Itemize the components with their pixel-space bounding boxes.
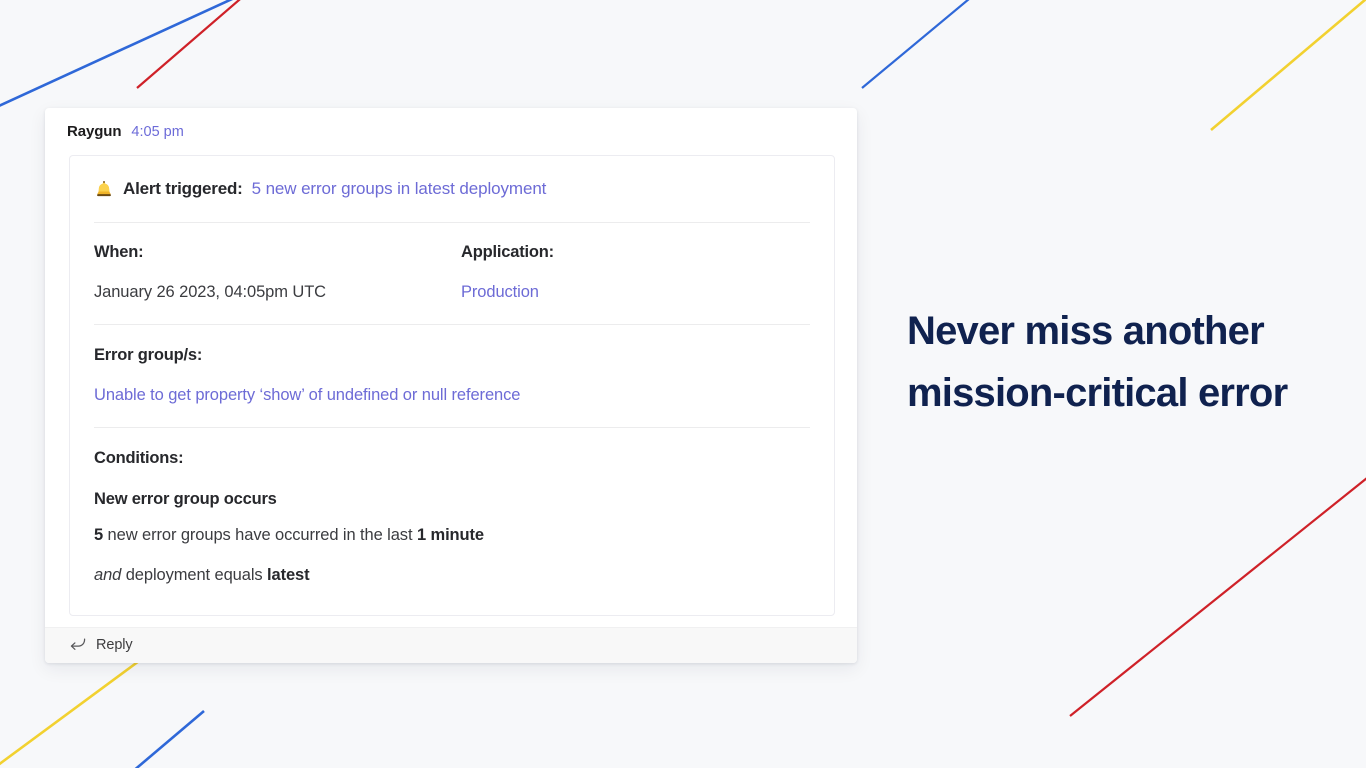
- condition-count-value: 5: [94, 526, 103, 544]
- condition-deployment-value: latest: [267, 566, 310, 584]
- condition-window-value: 1 minute: [417, 526, 484, 544]
- reply-arrow-icon: [69, 638, 86, 652]
- blue-line-top-right: [862, 0, 975, 88]
- yellow-line-top-right: [1211, 0, 1366, 130]
- condition-deployment-text: deployment equals: [121, 566, 267, 584]
- blue-line-top-left: [0, 0, 243, 110]
- message-timestamp[interactable]: 4:05 pm: [131, 124, 183, 140]
- condition-line-count: 5 new error groups have occurred in the …: [94, 526, 810, 545]
- sender-name: Raygun: [67, 123, 121, 140]
- blue-line-bottom-left: [132, 711, 204, 768]
- red-line-bottom-right: [1070, 474, 1366, 716]
- headline-line-1: Never miss another: [907, 300, 1337, 362]
- error-groups-block: Error group/s: Unable to get property ‘s…: [70, 325, 834, 427]
- condition-conjunction: and: [94, 566, 121, 584]
- alert-notification-card: Raygun 4:05 pm Alert triggered: 5 new er…: [45, 108, 857, 663]
- alert-meta-grid: When: Application: January 26 2023, 04:0…: [70, 223, 834, 324]
- alert-label: Alert triggered:: [123, 178, 243, 201]
- card-footer-reply[interactable]: Reply: [45, 627, 857, 663]
- condition-line-deployment: and deployment equals latest: [94, 566, 810, 585]
- alert-title-row: Alert triggered: 5 new error groups in l…: [70, 156, 834, 222]
- reply-label: Reply: [96, 637, 133, 653]
- error-groups-label: Error group/s:: [94, 346, 810, 365]
- alert-attachment-box: Alert triggered: 5 new error groups in l…: [69, 155, 835, 616]
- page-headline: Never miss another mission-critical erro…: [907, 300, 1337, 424]
- alert-link[interactable]: 5 new error groups in latest deployment: [252, 178, 547, 201]
- application-label: Application:: [461, 243, 810, 262]
- headline-line-2: mission-critical error: [907, 362, 1337, 424]
- conditions-block: Conditions: New error group occurs 5 new…: [70, 428, 834, 615]
- when-value: January 26 2023, 04:05pm UTC: [94, 283, 461, 302]
- yellow-line-bottom-left: [0, 661, 139, 768]
- error-group-link[interactable]: Unable to get property ‘show’ of undefin…: [94, 386, 520, 405]
- when-label: When:: [94, 243, 461, 262]
- conditions-label: Conditions:: [94, 449, 810, 468]
- bell-icon: [94, 180, 114, 200]
- condition-heading: New error group occurs: [94, 490, 810, 509]
- card-header: Raygun 4:05 pm: [45, 108, 857, 140]
- condition-count-text: new error groups have occurred in the la…: [103, 526, 417, 544]
- application-link[interactable]: Production: [461, 283, 539, 301]
- red-line-top-left: [137, 0, 246, 88]
